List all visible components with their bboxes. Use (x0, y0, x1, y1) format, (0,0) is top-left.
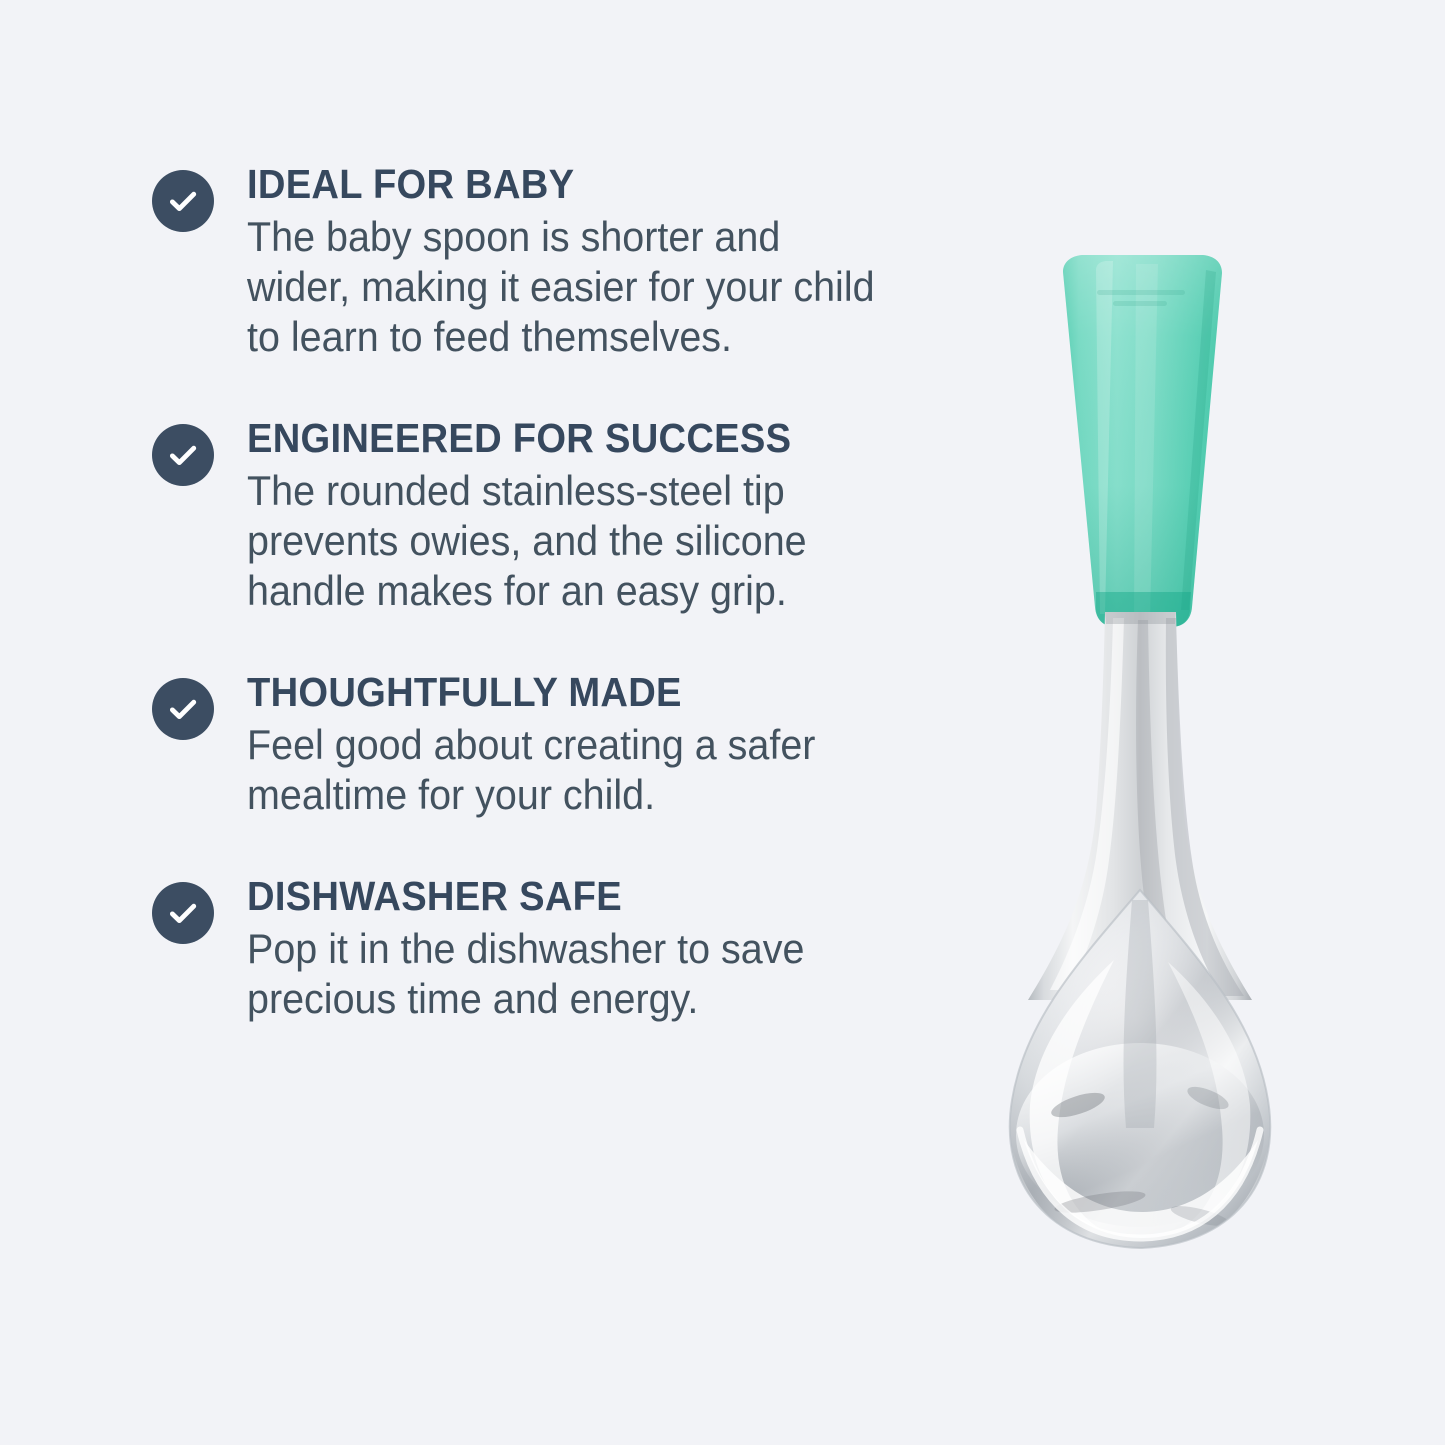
baby-spoon-photo (900, 200, 1380, 1300)
check-circle-icon (152, 424, 214, 486)
feature-item-dishwasher-safe: DISHWASHER SAFE Pop it in the dishwasher… (152, 872, 892, 1024)
feature-list: IDEAL FOR BABY The baby spoon is shorter… (152, 160, 892, 1024)
feature-body: Pop it in the dishwasher to save preciou… (247, 924, 890, 1024)
feature-title: IDEAL FOR BABY (247, 160, 847, 208)
feature-title: ENGINEERED FOR SUCCESS (247, 414, 847, 462)
feature-body: Feel good about creating a safer mealtim… (247, 720, 890, 820)
feature-item-ideal-for-baby: IDEAL FOR BABY The baby spoon is shorter… (152, 160, 892, 362)
check-circle-icon (152, 882, 214, 944)
feature-item-thoughtfully-made: THOUGHTFULLY MADE Feel good about creati… (152, 668, 892, 820)
spoon-steel-bowl (1010, 890, 1271, 1256)
product-infographic: IDEAL FOR BABY The baby spoon is shorter… (0, 0, 1445, 1445)
spoon-steel-neck (1028, 612, 1252, 1000)
feature-item-engineered-for-success: ENGINEERED FOR SUCCESS The rounded stain… (152, 414, 892, 616)
embossed-logo-impression (1097, 290, 1185, 306)
check-circle-icon (152, 678, 214, 740)
spoon-silicone-handle (1063, 255, 1222, 627)
feature-body: The baby spoon is shorter and wider, mak… (247, 212, 890, 362)
check-circle-icon (152, 170, 214, 232)
feature-body: The rounded stainless-steel tip prevents… (247, 466, 890, 616)
feature-title: DISHWASHER SAFE (247, 872, 847, 920)
feature-title: THOUGHTFULLY MADE (247, 668, 847, 716)
